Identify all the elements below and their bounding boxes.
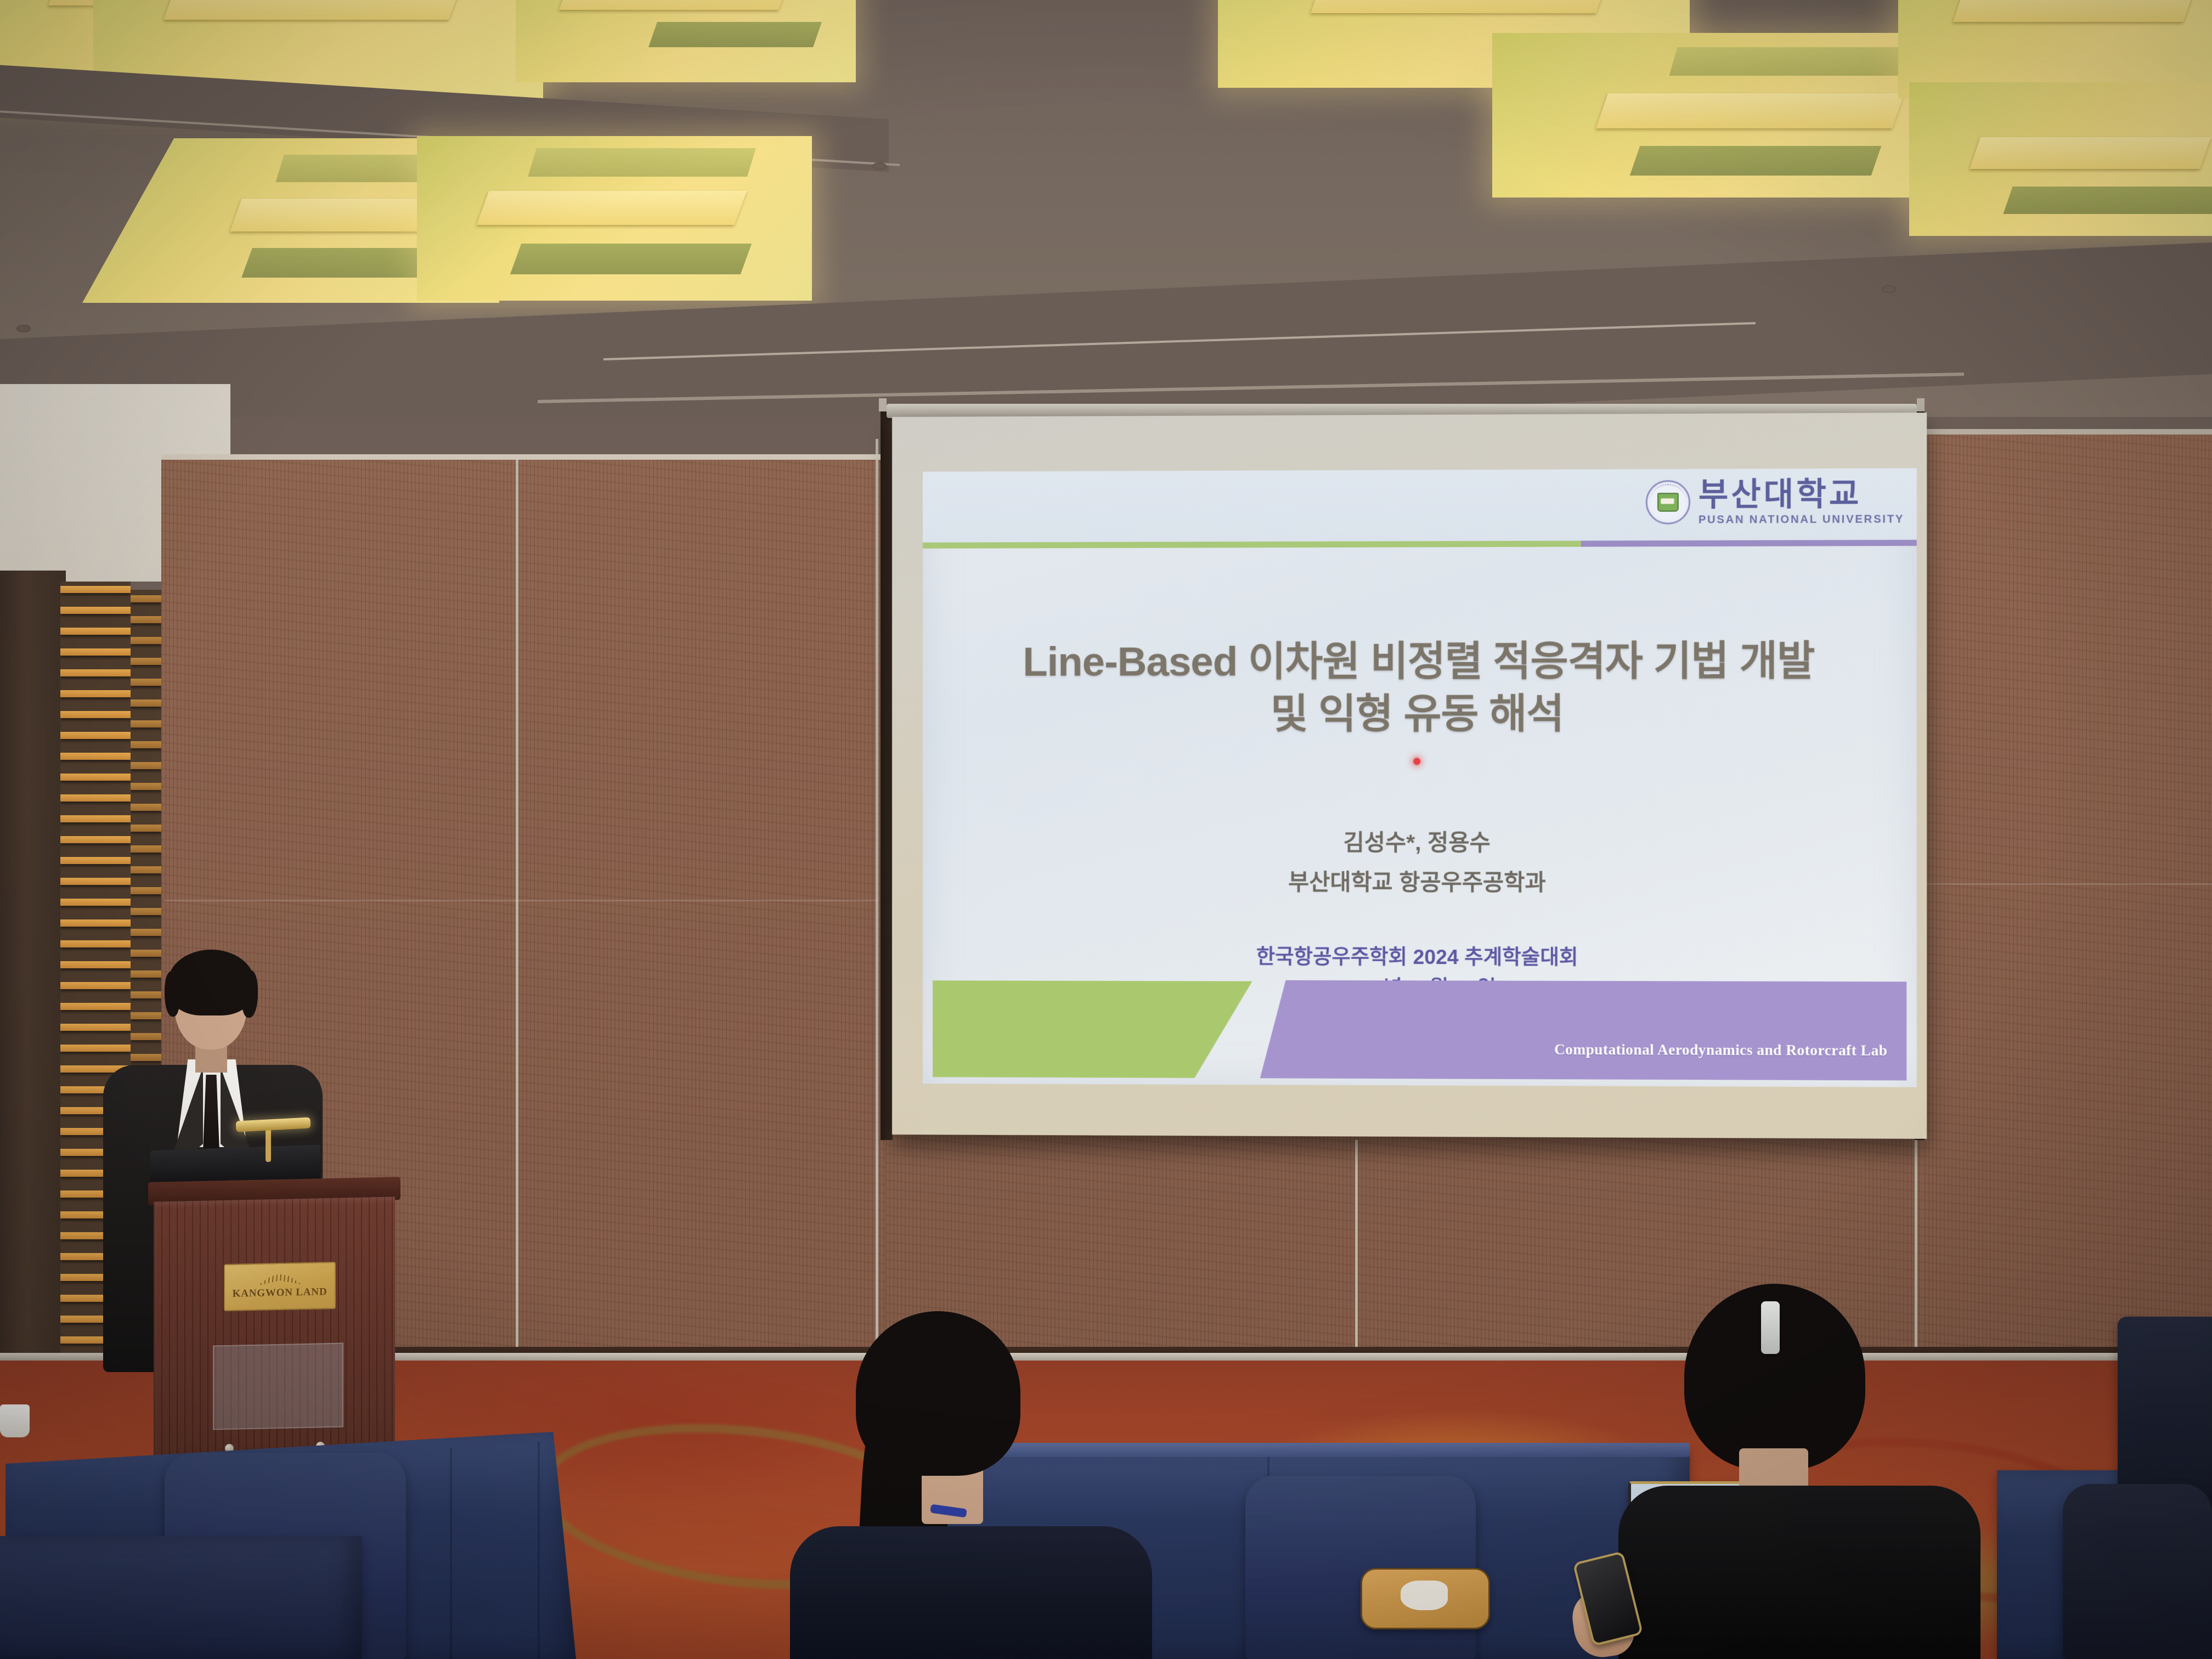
tan-pouch [1361, 1568, 1490, 1629]
slide-title-line2: 및 익형 유동 해석 [923, 687, 1917, 741]
ceiling-spotlight-icon [1882, 285, 1896, 293]
presentation-slide: 부산대학교 PUSAN NATIONAL UNIVERSITY Line-Bas… [923, 468, 1917, 1087]
footer-purple-shape: Computational Aerodynamics and Rotorcraf… [1260, 980, 1907, 1081]
pouch-patch [1401, 1581, 1448, 1610]
slide-conference-name: 한국항공우주학회 2024 추계학술대회 [923, 941, 1917, 974]
projection-screen: 부산대학교 PUSAN NATIONAL UNIVERSITY Line-Bas… [892, 413, 1927, 1139]
ceiling-spotlight-icon [16, 325, 31, 332]
wall-seam [1355, 1140, 1358, 1366]
university-name-en: PUSAN NATIONAL UNIVERSITY [1699, 513, 1904, 525]
audience-chair-dark [2063, 1484, 2212, 1659]
podium-front-panel [213, 1343, 343, 1430]
wall-seam [516, 460, 518, 1364]
drape-fold [538, 1442, 540, 1659]
wall-dark-recess [0, 571, 66, 1366]
slide-title: Line-Based 이차원 비정렬 적응격자 기법 개발 및 익형 유동 해석 [923, 635, 1917, 740]
wall-seam [876, 439, 878, 1366]
laser-pointer-dot [1413, 757, 1421, 766]
audience-upper-body [1618, 1486, 1980, 1659]
podium-plaque-text: KANGWON LAND [233, 1286, 328, 1300]
ceiling-spotlight-icon [872, 162, 887, 170]
wall-ceiling-trim [161, 454, 885, 460]
screen-left-frame [881, 410, 893, 1140]
wall-panel-right [1917, 433, 2212, 1377]
podium-plaque: KANGWON LAND [224, 1262, 336, 1311]
presenter-hair [168, 950, 255, 1015]
ceiling-light-coffer [516, 0, 856, 82]
rule-purple-segment [1581, 540, 1917, 547]
audience-member-ponytail [779, 1311, 1174, 1659]
audience-upper-body [790, 1526, 1152, 1659]
rule-green-segment [923, 541, 1581, 549]
audience-member-hairclip [1585, 1284, 2035, 1659]
slide-footer: Computational Aerodynamics and Rotorcraf… [923, 978, 1917, 1087]
ceiling-light-coffer [417, 136, 812, 301]
slide-authors-block: 김성수*, 정용수 부산대학교 항공우주공학과 [923, 823, 1917, 903]
ceiling [0, 0, 2212, 417]
podium-lamp-arm [266, 1127, 271, 1162]
ceiling-light-coffer [1909, 82, 2212, 236]
wing-logo-icon [257, 1274, 302, 1286]
wall-seam [165, 900, 878, 901]
wall-seam [1918, 883, 2212, 885]
university-name-kr: 부산대학교 [1699, 478, 1904, 511]
university-logo: 부산대학교 PUSAN NATIONAL UNIVERSITY [1646, 478, 1904, 526]
audience-chair [1245, 1476, 1476, 1659]
conference-room-photo: 부산대학교 PUSAN NATIONAL UNIVERSITY Line-Bas… [0, 0, 2212, 1659]
lab-name: Computational Aerodynamics and Rotorcraf… [1554, 1041, 1887, 1059]
footer-green-shape [933, 980, 1252, 1078]
paper-cup [0, 1404, 30, 1437]
draped-table-foreground [0, 1536, 362, 1659]
slide-header: 부산대학교 PUSAN NATIONAL UNIVERSITY [923, 468, 1917, 544]
hair-clip [1761, 1301, 1780, 1354]
slide-affiliation: 부산대학교 항공우주공학과 [923, 862, 1917, 903]
university-crest-icon [1646, 480, 1690, 524]
drape-fold [450, 1448, 452, 1659]
slide-authors: 김성수*, 정용수 [923, 823, 1917, 864]
slide-title-line1: Line-Based 이차원 비정렬 적응격자 기법 개발 [923, 635, 1917, 689]
audience-hair [856, 1311, 1020, 1476]
